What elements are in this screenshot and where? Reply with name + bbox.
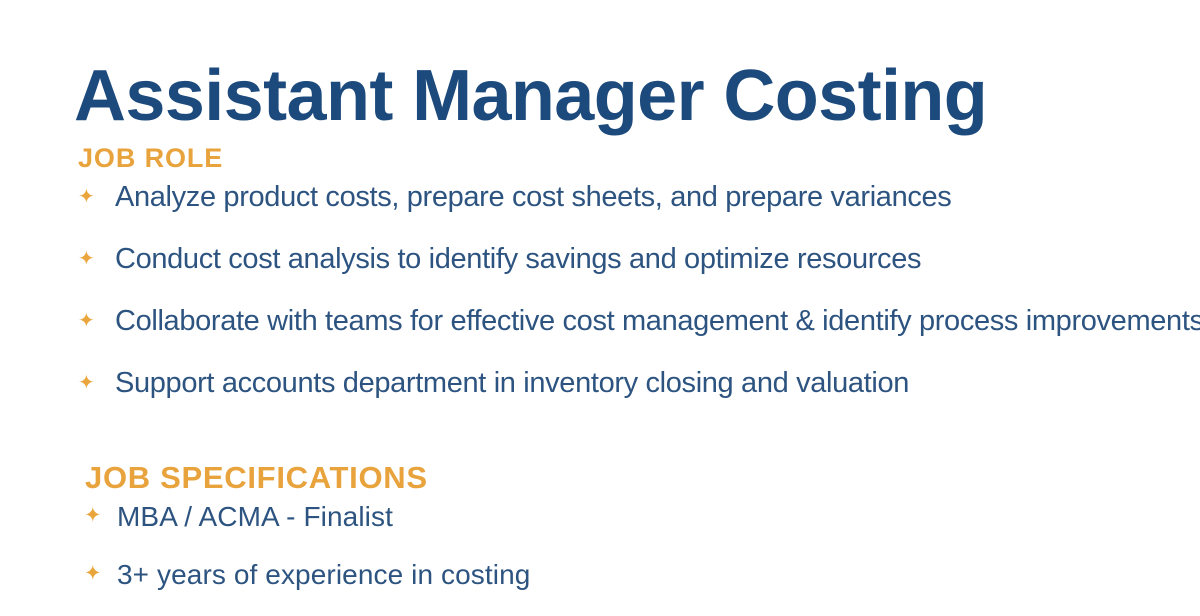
list-item-label: Collaborate with teams for effective cos… — [115, 304, 1200, 338]
list-item-label: Conduct cost analysis to identify saving… — [115, 242, 921, 276]
job-posting-page: Assistant Manager Costing JOB ROLE ✦ Ana… — [0, 0, 1200, 600]
list-item: ✦ 3+ years of experience in costing — [84, 558, 1164, 616]
diamond-bullet-icon: ✦ — [78, 180, 115, 207]
section-heading-job-role: JOB ROLE — [78, 143, 223, 174]
diamond-bullet-icon: ✦ — [78, 366, 115, 393]
list-item-label: 3+ years of experience in costing — [117, 558, 530, 592]
diamond-bullet-icon: ✦ — [84, 558, 117, 584]
diamond-bullet-icon: ✦ — [84, 500, 117, 526]
list-item: ✦ Analyze product costs, prepare cost sh… — [78, 180, 1178, 242]
job-specifications-list: ✦ MBA / ACMA - Finalist ✦ 3+ years of ex… — [84, 500, 1164, 616]
section-heading-job-specifications: JOB SPECIFICATIONS — [85, 460, 428, 496]
page-title: Assistant Manager Costing — [74, 50, 987, 142]
list-item: ✦ Conduct cost analysis to identify savi… — [78, 242, 1178, 304]
job-role-list: ✦ Analyze product costs, prepare cost sh… — [78, 180, 1178, 428]
list-item: ✦ Support accounts department in invento… — [78, 366, 1178, 428]
diamond-bullet-icon: ✦ — [78, 242, 115, 269]
list-item-label: MBA / ACMA - Finalist — [117, 500, 393, 534]
diamond-bullet-icon: ✦ — [78, 304, 115, 331]
list-item-label: Analyze product costs, prepare cost shee… — [115, 180, 951, 214]
list-item: ✦ Collaborate with teams for effective c… — [78, 304, 1178, 366]
list-item: ✦ MBA / ACMA - Finalist — [84, 500, 1164, 558]
list-item-label: Support accounts department in inventory… — [115, 366, 909, 400]
